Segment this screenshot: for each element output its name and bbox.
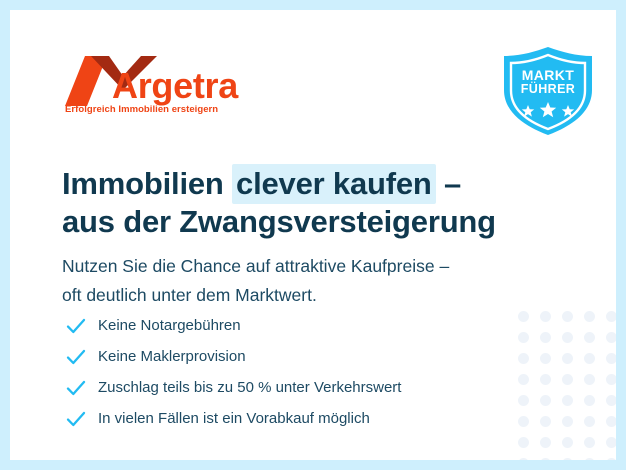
shield-badge-icon	[498, 46, 598, 136]
check-icon	[64, 345, 88, 369]
headline-suffix: –	[436, 166, 461, 201]
headline-line-2: aus der Zwangsversteigerung	[62, 203, 562, 241]
check-icon	[64, 376, 88, 400]
page-title: Immobilien clever kaufen – aus der Zwang…	[62, 165, 562, 241]
logo-tagline: Erfolgreich Immobilien ersteigern	[65, 104, 218, 115]
promo-card: Argetra Erfolgreich Immobilien ersteiger…	[10, 10, 616, 460]
list-item: Keine Maklerprovision	[64, 341, 534, 372]
check-icon	[64, 314, 88, 338]
list-item-label: Keine Maklerprovision	[98, 349, 246, 364]
logo-wordmark: Argetra	[112, 68, 238, 104]
list-item: In vielen Fällen ist ein Vorabkauf mögli…	[64, 403, 534, 434]
check-icon	[64, 407, 88, 431]
subtitle: Nutzen Sie die Chance auf attraktive Kau…	[62, 252, 572, 310]
headline-line-1: Immobilien clever kaufen –	[62, 165, 562, 203]
list-item: Zuschlag teils bis zu 50 % unter Verkehr…	[64, 372, 534, 403]
list-item: Keine Notargebühren	[64, 310, 534, 341]
headline-prefix: Immobilien	[62, 166, 232, 201]
list-item-label: In vielen Fällen ist ein Vorabkauf mögli…	[98, 411, 370, 426]
headline-highlight: clever kaufen	[232, 164, 436, 204]
subtitle-line-2: oft deutlich unter dem Marktwert.	[62, 281, 572, 310]
benefit-list: Keine Notargebühren Keine Maklerprovisio…	[64, 310, 534, 434]
list-item-label: Keine Notargebühren	[98, 318, 241, 333]
market-leader-badge: MARKT FÜHRER	[498, 46, 598, 136]
argetra-logo[interactable]: Argetra Erfolgreich Immobilien ersteiger…	[65, 54, 265, 122]
subtitle-line-1: Nutzen Sie die Chance auf attraktive Kau…	[62, 252, 572, 281]
list-item-label: Zuschlag teils bis zu 50 % unter Verkehr…	[98, 380, 401, 395]
